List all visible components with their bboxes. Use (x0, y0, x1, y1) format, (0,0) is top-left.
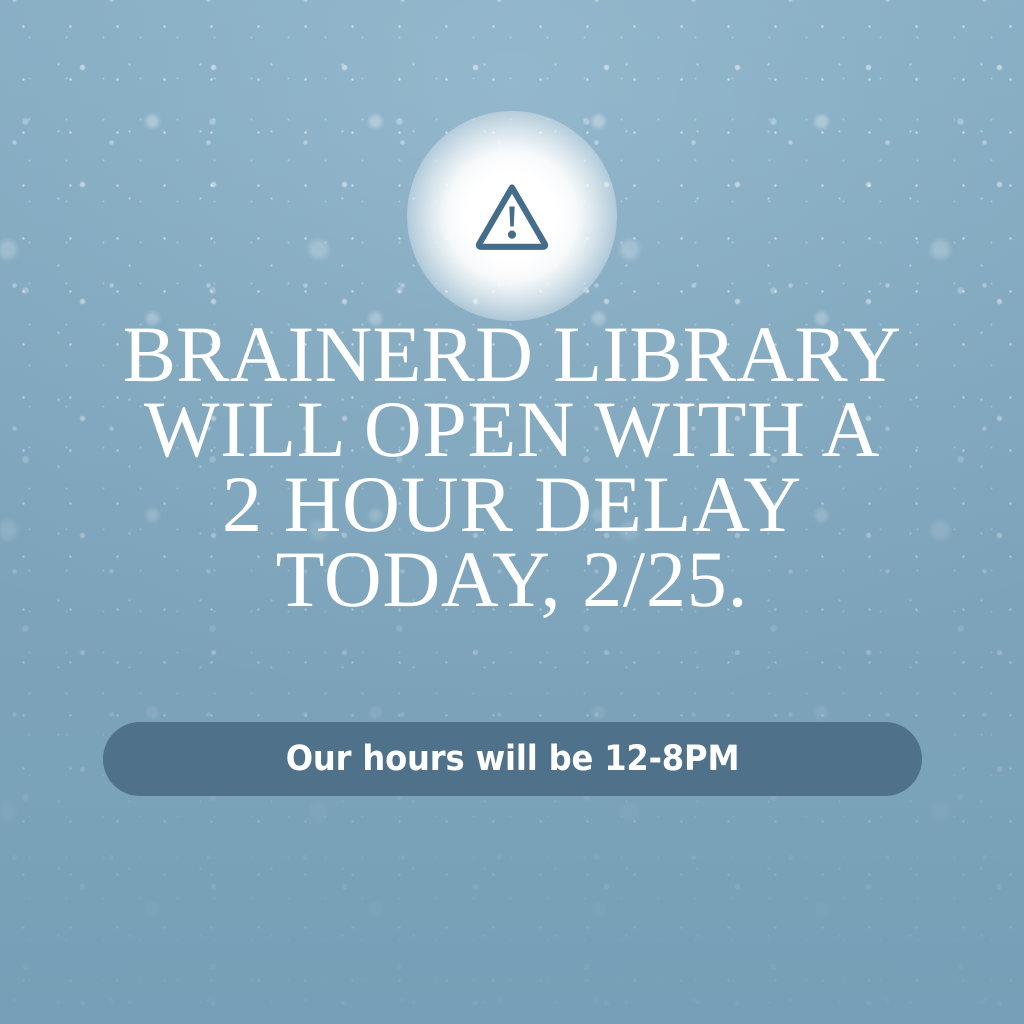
hours-banner: Our hours will be 12-8PM (103, 722, 922, 796)
announcement-poster: BRAINERD LIBRARY WILL OPEN WITH A 2 HOUR… (0, 0, 1024, 1024)
hours-banner-label: Our hours will be 12-8PM (286, 742, 740, 777)
headline-line-4: TODAY, 2/25. (0, 543, 1024, 618)
warning-icon-area (0, 130, 1024, 302)
headline-line-1: BRAINERD LIBRARY (0, 318, 1024, 393)
headline-line-2: WILL OPEN WITH A (0, 393, 1024, 468)
warning-triangle-icon (474, 181, 550, 251)
page-title: BRAINERD LIBRARY WILL OPEN WITH A 2 HOUR… (0, 318, 1024, 618)
headline-line-3: 2 HOUR DELAY (0, 468, 1024, 543)
